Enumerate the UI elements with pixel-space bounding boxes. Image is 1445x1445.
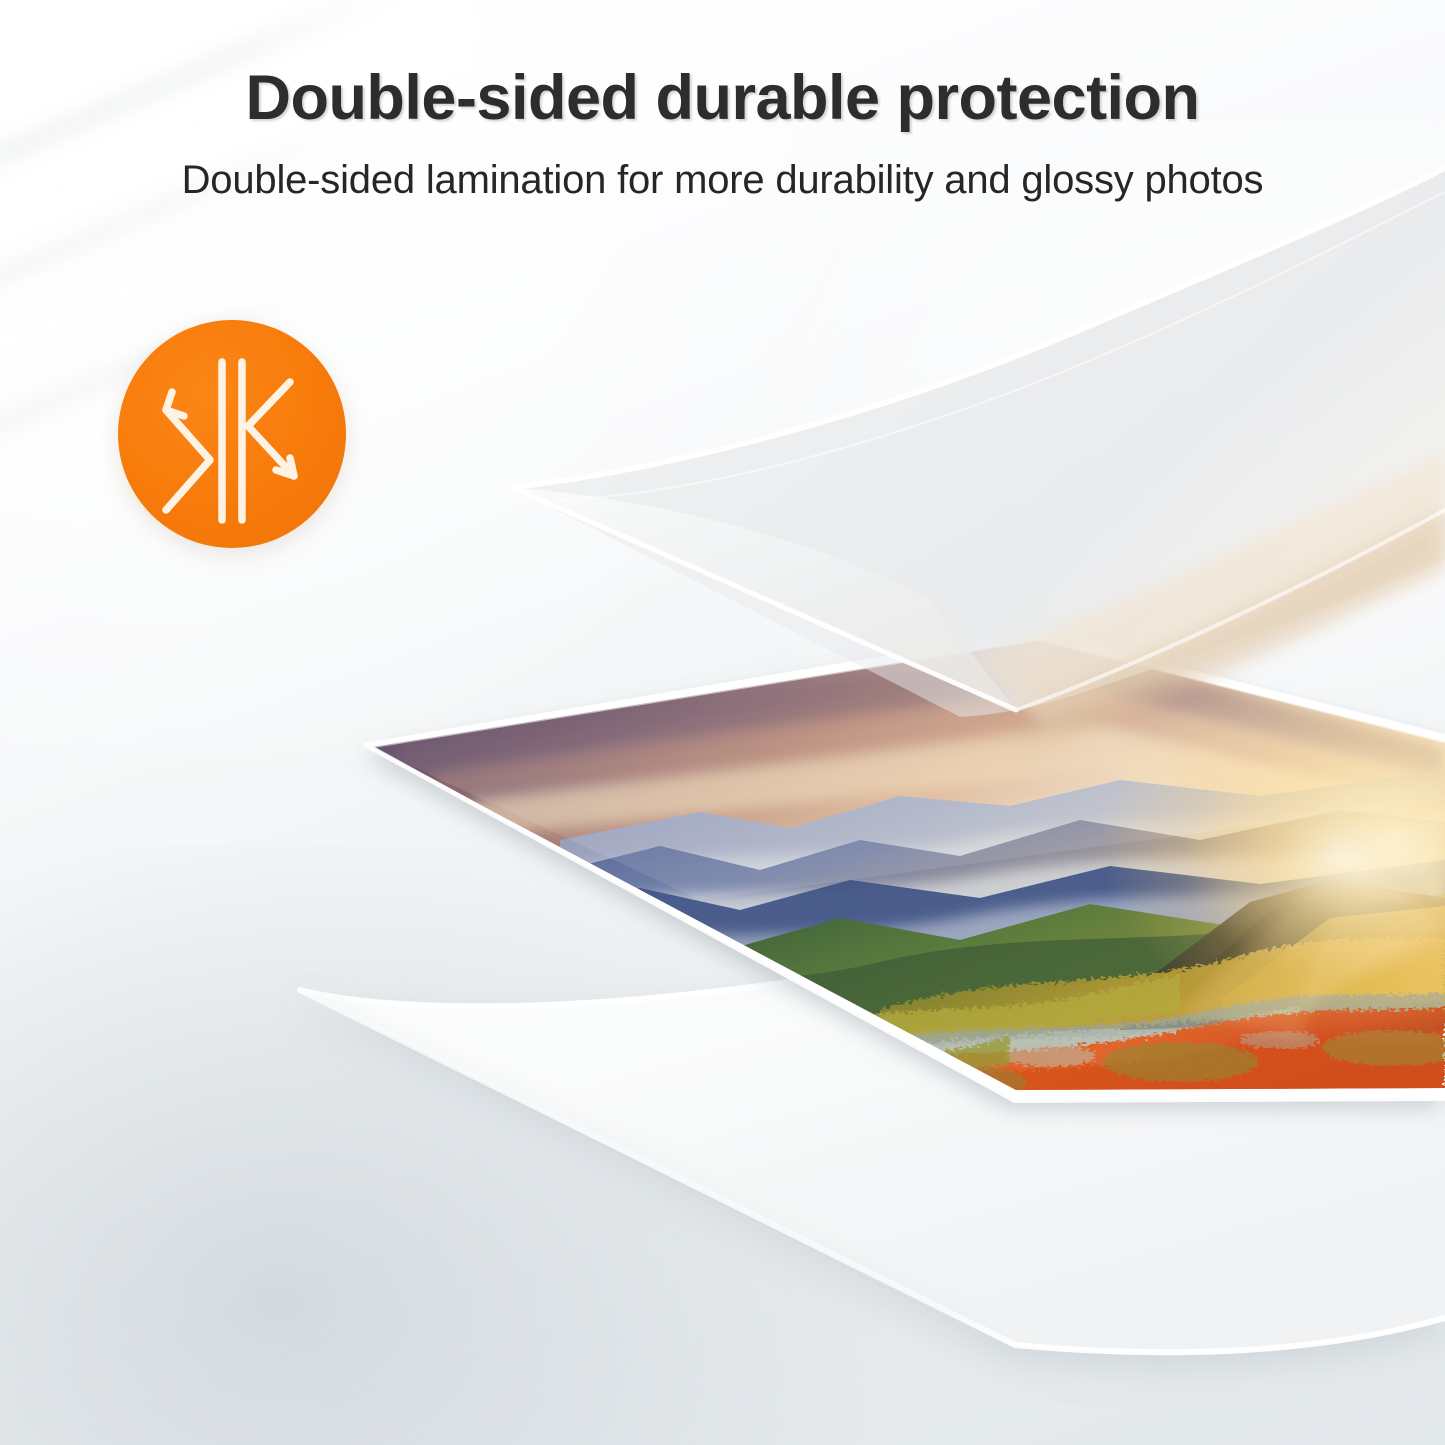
page-title: Double-sided durable protection	[0, 62, 1445, 134]
page-subtitle: Double-sided lamination for more durabil…	[0, 158, 1445, 203]
top-film-sheet	[512, 168, 1445, 740]
double-sided-lamination-badge	[118, 320, 346, 548]
lamination-illustration	[0, 0, 1445, 1445]
marketing-banner: Double-sided durable protection Double-s…	[0, 0, 1445, 1445]
double-sided-lamination-icon	[118, 320, 346, 548]
